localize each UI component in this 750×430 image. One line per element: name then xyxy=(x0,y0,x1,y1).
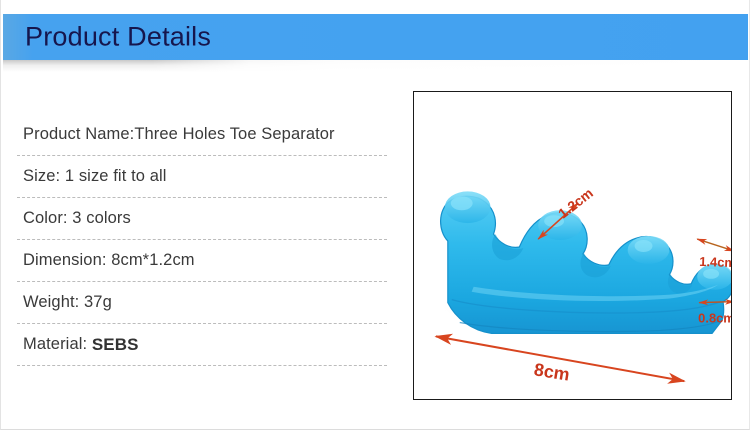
spec-text-color: Color: 3 colors xyxy=(17,209,131,228)
product-details-page: Product Details Product Name:Three Holes… xyxy=(0,0,750,430)
product-illustration: 1.2cm 1.4cm 0.8cm 8cm xyxy=(414,92,731,399)
post-1-highlight xyxy=(451,196,473,210)
base-thickness-annotation-label: 0.8cm xyxy=(698,310,731,325)
spec-row-product-name: Product Name:Three Holes Toe Separator xyxy=(17,114,387,156)
spec-text-size: Size: 1 size fit to all xyxy=(17,167,167,186)
post-width-annotation-label: 1.4cm xyxy=(699,254,731,270)
header-banner: Product Details xyxy=(3,14,748,60)
spec-text-product-name: Product Name:Three Holes Toe Separator xyxy=(17,125,335,144)
spec-text-material-value: SEBS xyxy=(92,335,139,355)
spec-text-dimension: Dimension: 8cm*1.2cm xyxy=(17,251,195,270)
spec-row-size: Size: 1 size fit to all xyxy=(17,156,387,198)
header-shadow xyxy=(3,60,748,72)
page-title: Product Details xyxy=(25,22,211,53)
spec-text-material-label: Material: xyxy=(17,335,92,354)
post-width-annotation: 1.4cm xyxy=(697,239,731,270)
spec-row-material: Material: SEBS xyxy=(17,324,387,366)
length-annotation-label: 8cm xyxy=(533,359,571,384)
post-4-highlight xyxy=(703,269,719,279)
spec-row-dimension: Dimension: 8cm*1.2cm xyxy=(17,240,387,282)
spec-row-weight: Weight: 37g xyxy=(17,282,387,324)
spec-text-weight: Weight: 37g xyxy=(17,293,112,312)
spec-list: Product Name:Three Holes Toe Separator S… xyxy=(17,114,387,366)
product-image-panel: 1.2cm 1.4cm 0.8cm 8cm xyxy=(413,91,732,400)
post-3-highlight xyxy=(635,240,653,252)
spec-row-color: Color: 3 colors xyxy=(17,198,387,240)
length-annotation: 8cm xyxy=(436,336,684,384)
